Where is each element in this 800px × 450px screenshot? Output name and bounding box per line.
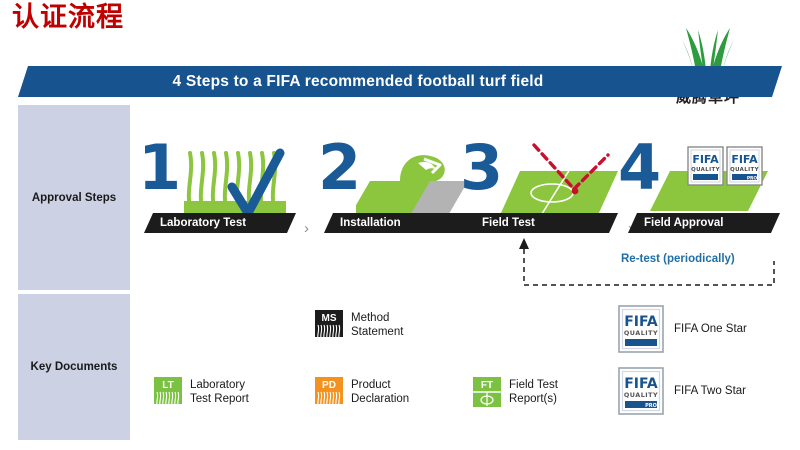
step-1-label-text: Laboratory Test	[144, 217, 246, 229]
step-1-number: 1	[138, 137, 181, 199]
document-label-lt: Laboratory Test Report	[190, 378, 249, 407]
pd-document-icon: PD	[315, 377, 343, 407]
document-label-pd-line1: Product	[351, 378, 409, 392]
step-1-label[interactable]: Laboratory Test	[144, 213, 296, 233]
document-label-lt-line2: Test Report	[190, 392, 249, 406]
ball-bounce-field-icon	[500, 139, 624, 224]
step-separator-1: ›	[304, 220, 309, 237]
column-divider	[290, 294, 293, 440]
document-label-lt-line1: Laboratory	[190, 378, 249, 392]
fifa-quality-pro-badge-icon: FIFA QUALITY PRO	[618, 367, 664, 415]
process-diagram: Approval Steps Key Documents 1	[18, 105, 782, 440]
column-divider	[607, 294, 610, 440]
svg-text:PRO: PRO	[747, 175, 758, 181]
document-label-pd: Product Declaration	[351, 378, 409, 407]
step-3-label-text: Field Test	[466, 217, 535, 229]
certificate-one-star[interactable]: FIFA QUALITY FIFA One Star	[618, 305, 747, 353]
document-label-ms-line1: Method	[351, 311, 403, 325]
step-1[interactable]: 1 Lab	[138, 105, 298, 290]
svg-text:FIFA: FIFA	[731, 153, 758, 166]
fifa-quality-badge-icon: FIFA QUALITY	[618, 305, 664, 353]
lt-document-icon: LT	[154, 377, 182, 407]
slide-canvas: 认证流程 威腾草坪 4 Steps to a FIFA recommended …	[0, 0, 800, 450]
document-label-ft-line2: Report(s)	[509, 392, 558, 406]
step-2-number: 2	[318, 137, 361, 199]
document-label-ms-line2: Statement	[351, 325, 403, 339]
step-2-label[interactable]: Installation	[324, 213, 476, 233]
fifa-badges-field-icon: FIFA QUALITY FIFA QUALITY PRO	[648, 145, 776, 220]
fringe-icon	[154, 391, 182, 407]
fringe-icon	[315, 324, 343, 340]
column-divider	[130, 294, 133, 440]
document-label-ms: Method Statement	[351, 311, 403, 340]
svg-text:FIFA: FIFA	[624, 376, 658, 392]
ft-document-icon: FT	[473, 377, 501, 407]
step-2[interactable]: 2 Installation	[318, 105, 478, 290]
diagram-header-banner: 4 Steps to a FIFA recommended football t…	[18, 66, 782, 97]
svg-text:QUALITY: QUALITY	[624, 329, 658, 337]
football-pitch-mark-icon	[473, 391, 501, 407]
step-2-label-text: Installation	[324, 217, 401, 229]
svg-text:QUALITY: QUALITY	[691, 167, 720, 173]
fringe-icon	[315, 391, 343, 407]
svg-text:FIFA: FIFA	[692, 153, 719, 166]
column-divider	[448, 294, 451, 440]
banner-title: 4 Steps to a FIFA recommended football t…	[173, 73, 544, 91]
document-label-ft-line1: Field Test	[509, 378, 558, 392]
svg-text:PRO: PRO	[645, 403, 657, 409]
document-label-ft: Field Test Report(s)	[509, 378, 558, 407]
document-item-pd[interactable]: PD Product Declaration	[315, 377, 409, 407]
ms-document-icon: MS	[315, 310, 343, 340]
svg-text:QUALITY: QUALITY	[730, 167, 759, 173]
document-item-ft[interactable]: FT Field Test Report(s)	[473, 377, 558, 407]
svg-text:FIFA: FIFA	[624, 314, 658, 330]
svg-text:QUALITY: QUALITY	[624, 391, 658, 399]
certificate-two-star[interactable]: FIFA QUALITY PRO FIFA Two Star	[618, 367, 746, 415]
step-4-label-text: Field Approval	[628, 217, 723, 229]
page-title: 认证流程	[12, 2, 124, 33]
document-item-ms[interactable]: MS Method Statement	[315, 310, 403, 340]
step-3-number: 3	[460, 137, 503, 199]
document-label-pd-line2: Declaration	[351, 392, 409, 406]
step-4-label[interactable]: Field Approval	[628, 213, 780, 233]
document-item-lt[interactable]: LT Laboratory Test Report	[154, 377, 249, 407]
certificate-two-star-label: FIFA Two Star	[674, 385, 746, 397]
row-label-key-documents: Key Documents	[18, 294, 130, 440]
step-3-label[interactable]: Field Test	[466, 213, 618, 233]
retest-label: Re-test (periodically)	[621, 253, 735, 265]
row-label-approval-steps: Approval Steps	[18, 105, 130, 290]
certificate-one-star-label: FIFA One Star	[674, 323, 747, 335]
